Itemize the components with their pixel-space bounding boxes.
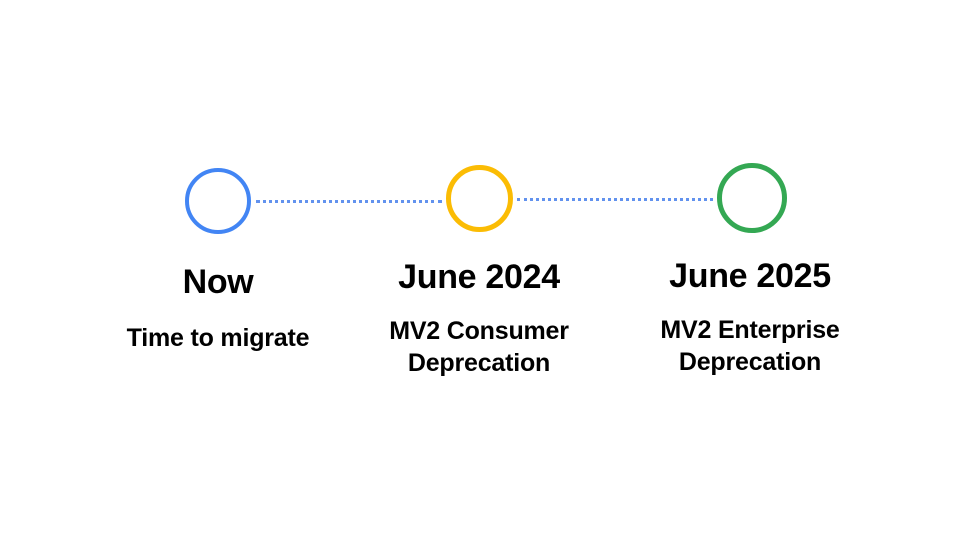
timeline-marker-june-2024 [446,165,513,232]
milestone-title: Now [98,262,338,302]
milestone-caption: MV2 Enterprise Deprecation [630,314,870,378]
milestone-caption: Time to migrate [98,322,338,354]
milestone-title: June 2024 [359,257,599,297]
milestone-title: June 2025 [630,256,870,296]
timeline-marker-now [185,168,251,234]
timeline-label-june-2024: June 2024 MV2 Consumer Deprecation [359,257,599,379]
timeline-connector-june-2024-to-june-2025 [517,198,713,204]
timeline-label-now: Now Time to migrate [98,262,338,354]
timeline-connector-now-to-june-2024 [256,200,442,206]
timeline-marker-june-2025 [717,163,787,233]
milestone-caption: MV2 Consumer Deprecation [359,315,599,379]
timeline-label-june-2025: June 2025 MV2 Enterprise Deprecation [630,256,870,378]
timeline-diagram: Now Time to migrate June 2024 MV2 Consum… [0,0,960,540]
